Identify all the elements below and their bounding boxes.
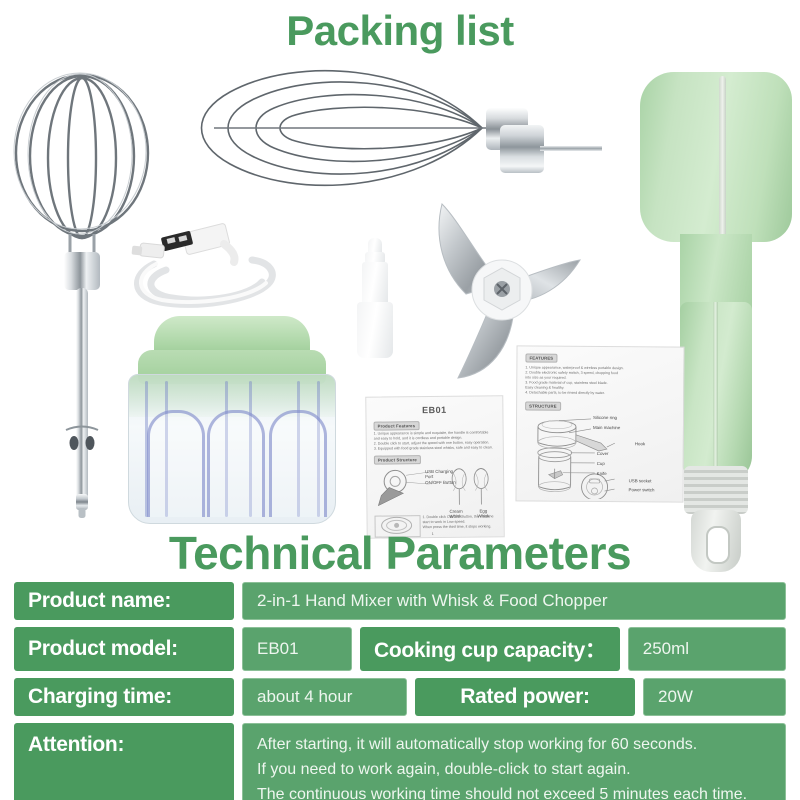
spec-key-charging-time: Charging time: <box>14 678 234 716</box>
manual-right-section-structure: STRUCTURE <box>525 401 561 410</box>
manual-label-hook: Hook <box>635 441 645 446</box>
manual-label-cup: Cup <box>597 461 605 466</box>
manual-label-silicone-ring: Silicone ring <box>593 415 617 420</box>
packing-list-infographic: Packing list <box>0 0 800 800</box>
instruction-manual-eb01: EB01 Product Features 1. Unique appearan… <box>365 395 504 538</box>
manual-label-port: Port <box>425 474 433 479</box>
cup-arch <box>269 410 327 517</box>
chopper-cup-body <box>128 374 336 524</box>
manual-label-main-machine: Main machine <box>593 425 620 430</box>
product-balloon-whisk <box>186 58 536 198</box>
spec-key-cooking-cup-capacity: Cooking cup capacity： <box>360 627 620 671</box>
attention-line: If you need to work again, double-click … <box>257 758 631 783</box>
spec-key-attention: Attention: <box>14 723 234 800</box>
instruction-manual-features: FEATURES 1. Unique appearance, waterproo… <box>515 345 684 502</box>
page-title-technical-parameters: Technical Parameters <box>0 528 800 578</box>
manual-left-feature-line: 3. Equipped with food grade stainless st… <box>374 445 493 452</box>
mixer-handle <box>680 302 752 482</box>
table-row: Product name: 2-in-1 Hand Mixer with Whi… <box>14 582 786 620</box>
mixer-grip-rings <box>684 466 748 514</box>
manual-left-section-features: Product Features <box>374 421 420 430</box>
coupler-base <box>357 302 393 358</box>
spec-key-product-name: Product name: <box>14 582 234 620</box>
manual-label-onoff-button: ON/OFF Button <box>425 480 456 485</box>
mixer-motor-housing <box>640 72 792 242</box>
mixer-chrome-coupler <box>500 125 544 173</box>
manual-left-section-structure: Product Structure <box>374 455 421 464</box>
spec-value-product-name: 2-in-1 Hand Mixer with Whisk & Food Chop… <box>242 582 786 620</box>
manual-label-knife: Knife <box>597 471 607 476</box>
spec-value-attention: After starting, it will automatically st… <box>242 723 786 800</box>
manual-label-usb-socket: USB socket <box>629 478 652 483</box>
table-row: Product model: EB01 Cooking cup capacity… <box>14 627 786 671</box>
attention-line: After starting, it will automatically st… <box>257 733 697 758</box>
product-usb-charging-cable <box>126 212 282 312</box>
cup-arch <box>207 410 265 517</box>
attention-line: The continuous working time should not e… <box>257 783 747 800</box>
coupler-step-2 <box>362 262 388 306</box>
manual-label-power-switch: Power switch <box>629 487 655 492</box>
spec-value-charging-time: about 4 hour <box>242 678 407 716</box>
table-row: Attention: After starting, it will autom… <box>14 723 786 800</box>
manual-right-feature-line: 4. Detachable parts, to be rinsed direct… <box>525 390 605 396</box>
manual-label-cover: Cover <box>597 451 609 456</box>
spec-value-cooking-cup-capacity: 250ml <box>628 627 786 671</box>
table-row: Charging time: about 4 hour Rated power:… <box>14 678 786 716</box>
spec-value-product-model: EB01 <box>242 627 352 671</box>
product-chopper-cup <box>122 316 340 528</box>
cup-arch <box>147 410 205 517</box>
spec-key-product-model: Product model: <box>14 627 234 671</box>
technical-parameters-table: Product name: 2-in-1 Hand Mixer with Whi… <box>14 582 786 800</box>
spec-key-rated-power: Rated power: <box>415 678 635 716</box>
spec-value-rated-power: 20W <box>643 678 786 716</box>
page-title-packing-list: Packing list <box>0 8 800 54</box>
mixer-drive-shaft <box>540 146 602 151</box>
manual-right-section-features: FEATURES <box>525 353 557 362</box>
manual-left-title: EB01 <box>366 404 502 415</box>
product-whisk-coupler <box>356 238 394 360</box>
